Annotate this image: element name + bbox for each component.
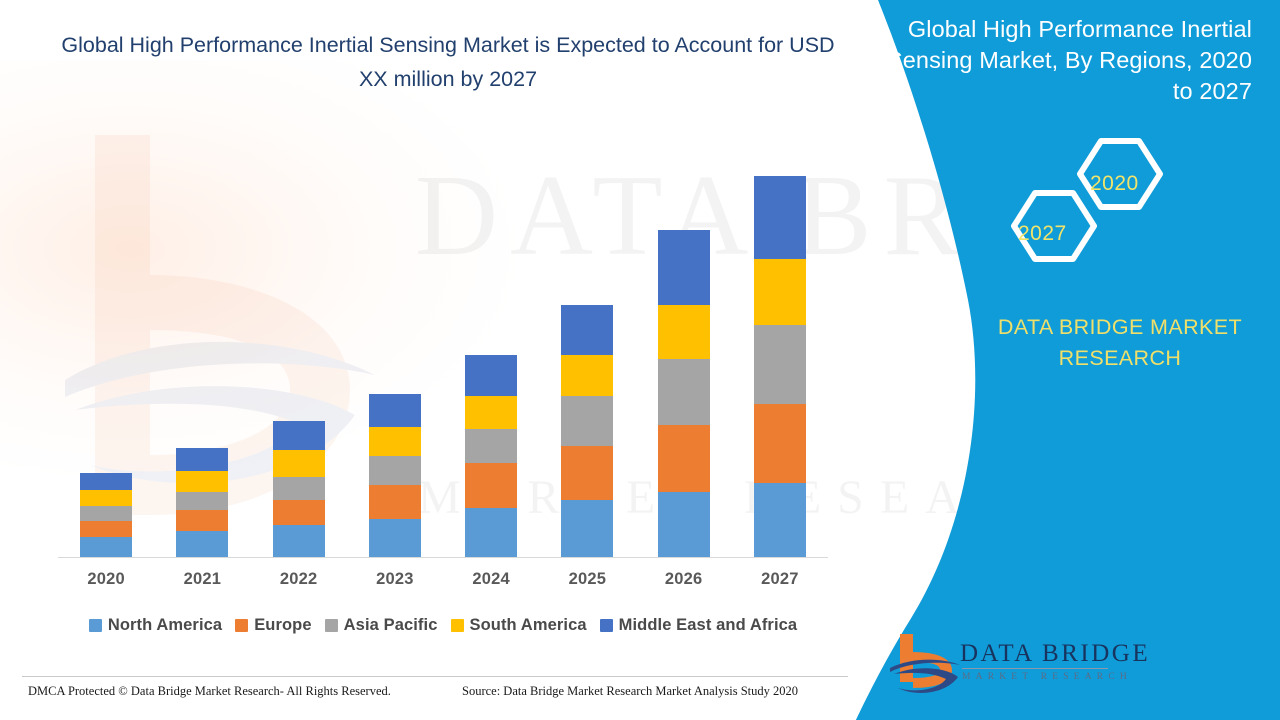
legend-item[interactable]: South America [451, 616, 587, 635]
bar-segment [465, 508, 517, 558]
legend-label: Middle East and Africa [619, 616, 798, 635]
x-axis-tick-labels: 20202021202220232024202520262027 [58, 570, 828, 594]
bar-column [658, 150, 710, 558]
bar-segment [369, 427, 421, 456]
hexagon-label-end: 2027 [1018, 222, 1067, 246]
legend-label: South America [470, 616, 587, 635]
bar-segment [176, 471, 228, 492]
bar-segment [561, 500, 613, 558]
page-title: Global High Performance Inertial Sensing… [48, 28, 848, 96]
x-axis-label: 2027 [732, 570, 828, 589]
brand-name: DATA BRIDGE MARKET RESEARCH [960, 312, 1280, 374]
bar-column [80, 150, 132, 558]
bar-segment [369, 485, 421, 518]
bar-segment [658, 230, 710, 305]
footer-source: Source: Data Bridge Market Research Mark… [462, 684, 798, 699]
legend-label: Europe [254, 616, 311, 635]
bar-segment [369, 519, 421, 558]
bar-column [176, 150, 228, 558]
bar-segment [561, 446, 613, 500]
bar-segment [465, 396, 517, 429]
bar-segment [80, 537, 132, 558]
bar-segment [465, 429, 517, 462]
footer-copyright: DMCA Protected © Data Bridge Market Rese… [28, 684, 391, 699]
bar-segment [561, 305, 613, 355]
bar-segment [176, 531, 228, 558]
chart-legend: North AmericaEuropeAsia PacificSouth Ame… [58, 616, 828, 635]
bar-segment [754, 404, 806, 483]
bar-segment [658, 492, 710, 558]
legend-item[interactable]: Middle East and Africa [600, 616, 798, 635]
bar-segment [176, 448, 228, 471]
bar-segment [561, 355, 613, 397]
bar-segment [754, 176, 806, 259]
logo-tagline: MARKET RESEARCH [962, 672, 1132, 682]
bar-segment [658, 425, 710, 491]
bar-segment [754, 483, 806, 558]
panel-title: Global High Performance Inertial Sensing… [884, 14, 1252, 107]
x-axis-label: 2025 [539, 570, 635, 589]
bar-segment [273, 500, 325, 525]
x-axis-label: 2020 [58, 570, 154, 589]
logo-rule [962, 668, 1108, 669]
x-axis-label: 2026 [636, 570, 732, 589]
bar-segment [176, 492, 228, 511]
bar-column [561, 150, 613, 558]
bar-segment [80, 490, 132, 507]
bar-segment [465, 355, 517, 397]
hexagon-badges-icon [988, 136, 1178, 276]
bar-segment [80, 506, 132, 521]
bar-segment [561, 396, 613, 446]
x-axis-line [58, 557, 828, 558]
legend-swatch-icon [325, 619, 338, 632]
legend-label: North America [108, 616, 222, 635]
bar-segment [176, 510, 228, 531]
stacked-bar-chart [58, 150, 828, 558]
bar-segment [369, 394, 421, 427]
bar-column [754, 150, 806, 558]
bar-segment [273, 421, 325, 450]
x-axis-label: 2021 [154, 570, 250, 589]
bar-segment [369, 456, 421, 485]
poster-canvas: DATA BRIDGE MARKET RESEARCH Global High … [0, 0, 1280, 720]
logo-wordmark: DATA BRIDGE [960, 640, 1150, 668]
bar-segment [754, 259, 806, 325]
bar-segment [754, 325, 806, 404]
legend-item[interactable]: North America [89, 616, 222, 635]
legend-label: Asia Pacific [344, 616, 438, 635]
legend-swatch-icon [235, 619, 248, 632]
x-axis-label: 2023 [347, 570, 443, 589]
bar-column [465, 150, 517, 558]
bar-segment [658, 305, 710, 359]
legend-swatch-icon [451, 619, 464, 632]
footer-divider [22, 676, 848, 677]
legend-item[interactable]: Europe [235, 616, 311, 635]
bar-column [369, 150, 421, 558]
bar-segment [465, 463, 517, 509]
legend-swatch-icon [600, 619, 613, 632]
bar-segment [658, 359, 710, 425]
legend-swatch-icon [89, 619, 102, 632]
bar-segment [273, 450, 325, 477]
x-axis-label: 2022 [251, 570, 347, 589]
bar-segment [80, 473, 132, 490]
bar-segment [273, 525, 325, 558]
legend-item[interactable]: Asia Pacific [325, 616, 438, 635]
bar-segment [273, 477, 325, 500]
bar-segment [80, 521, 132, 538]
x-axis-label: 2024 [443, 570, 539, 589]
bar-column [273, 150, 325, 558]
hexagon-label-start: 2020 [1090, 172, 1139, 196]
